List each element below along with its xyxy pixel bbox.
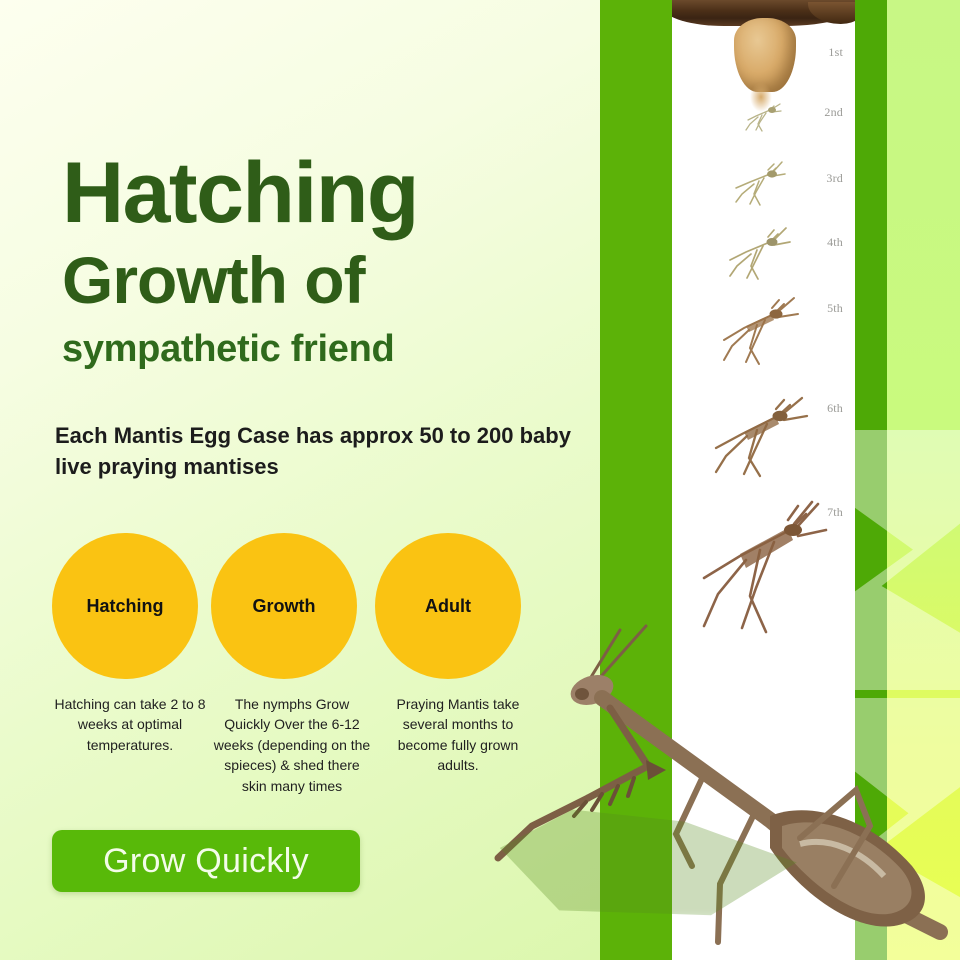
page-title-line2: Growth of bbox=[62, 248, 365, 313]
stage-caption-adult: Praying Mantis take several months to be… bbox=[378, 694, 538, 776]
instar-label-7: 7th bbox=[827, 505, 843, 520]
grow-quickly-button-label: Grow Quickly bbox=[103, 842, 309, 881]
stage-label-hatching: Hatching bbox=[86, 596, 163, 617]
infographic-poster: 1st 2nd 3rd 4th 5th 6th 7th bbox=[0, 0, 960, 960]
instar-label-1: 1st bbox=[828, 45, 843, 60]
nymph-stage-4 bbox=[724, 226, 796, 284]
stage-label-growth: Growth bbox=[253, 596, 316, 617]
grow-quickly-button[interactable]: Grow Quickly bbox=[52, 830, 360, 892]
stage-circle-hatching[interactable]: Hatching bbox=[52, 533, 198, 679]
stage-circle-growth[interactable]: Growth bbox=[211, 533, 357, 679]
lede-paragraph: Each Mantis Egg Case has approx 50 to 20… bbox=[55, 420, 600, 482]
stage-circle-group: Hatching Growth Adult bbox=[52, 533, 572, 683]
instar-label-2: 2nd bbox=[824, 105, 843, 120]
nymph-stage-5 bbox=[716, 296, 804, 370]
nymph-stage-6 bbox=[708, 396, 812, 484]
page-title-line1: Hatching bbox=[62, 152, 418, 235]
stage-circle-adult[interactable]: Adult bbox=[375, 533, 521, 679]
page-title-line3: sympathetic friend bbox=[62, 330, 394, 368]
instar-label-6: 6th bbox=[827, 401, 843, 416]
instar-label-3: 3rd bbox=[826, 171, 843, 186]
stage-caption-hatching: Hatching can take 2 to 8 weeks at optima… bbox=[50, 694, 210, 755]
instar-label-4: 4th bbox=[827, 235, 843, 250]
nymph-stage-2 bbox=[740, 100, 786, 136]
nymph-stage-3 bbox=[730, 160, 792, 210]
stage-caption-growth: The nymphs Grow Quickly Over the 6-12 we… bbox=[212, 694, 372, 796]
stage-label-adult: Adult bbox=[425, 596, 471, 617]
instar-label-5: 5th bbox=[827, 301, 843, 316]
egg-case-ootheca bbox=[734, 18, 796, 92]
